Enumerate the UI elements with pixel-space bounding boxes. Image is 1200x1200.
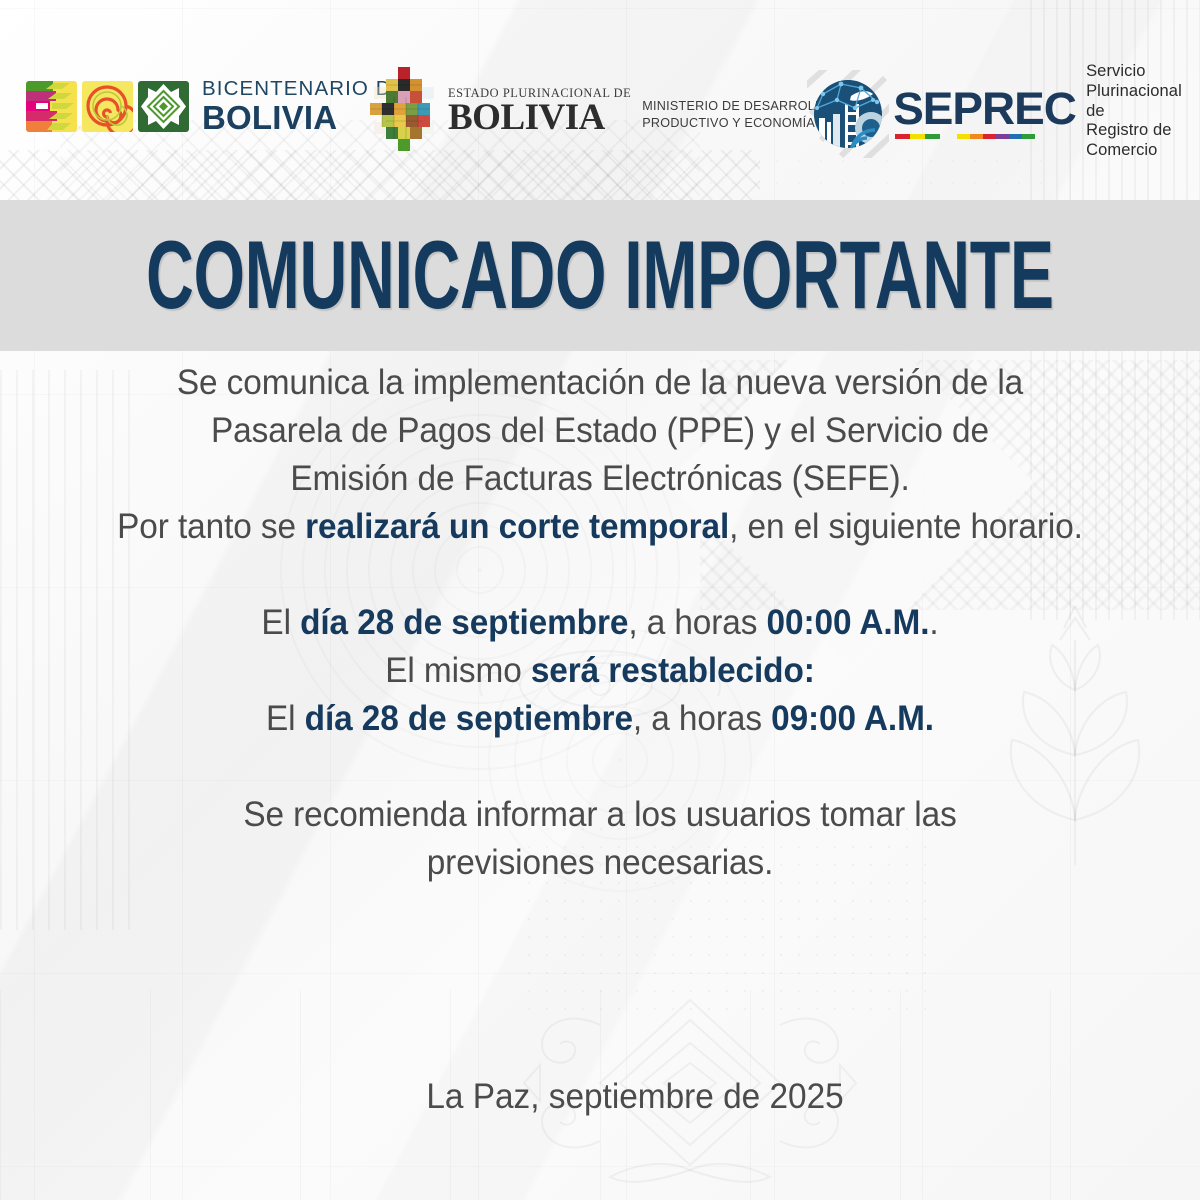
- seprec-color-bar-right: [957, 134, 1035, 139]
- cut-notice-bold: realizará un corte temporal: [305, 506, 729, 546]
- restore-mid: , a horas: [633, 698, 771, 738]
- ministerio-desarrollo-productivo-logo: ESTADO PLURINACIONAL DE BOLIVIA MINISTER…: [368, 64, 869, 159]
- restore-date: día 28 de septiembre: [305, 698, 633, 738]
- paragraph-restore-label: El mismo será restablecido:: [36, 646, 1164, 694]
- andean-diamond-tile-icon: [138, 81, 189, 132]
- seprec-color-bar-left: [895, 134, 940, 139]
- bicentenario-tiles: [26, 81, 189, 132]
- start-time: 00:00 A.M.: [767, 602, 930, 642]
- restore-date-pre: El: [266, 698, 305, 738]
- seprec-wordmark-group: SEPREC: [895, 88, 1074, 140]
- title-banner: COMUNICADO IMPORTANTE: [0, 200, 1200, 351]
- bicentenario-bolivia-logo: BICENTENARIO DE BOLIVIA: [26, 79, 406, 134]
- recommendation-text: Se recomienda informar a los usuarios to…: [243, 794, 956, 882]
- restore-bold: será restablecido:: [531, 650, 815, 690]
- seprec-subtitle-line1: Servicio Plurinacional de: [1086, 62, 1200, 121]
- page-title: COMUNICADO IMPORTANTE: [146, 220, 1054, 332]
- paragraph-start-datetime: El día 28 de septiembre, a horas 00:00 A…: [36, 598, 1164, 646]
- comunicado-poster: BICENTENARIO DE BOLIVIA: [0, 0, 1200, 1200]
- cut-notice-post: , en el siguiente horario.: [729, 506, 1083, 546]
- ministerio-line2: BOLIVIA: [448, 99, 631, 136]
- start-post: .: [929, 602, 938, 642]
- announcement-body: Se comunica la implementación de la nuev…: [0, 358, 1200, 886]
- signature-text: La Paz, septiembre de 2025: [426, 1076, 843, 1117]
- seprec-wordmark: SEPREC: [893, 88, 1076, 129]
- start-pre: El: [261, 602, 300, 642]
- spacer-1: [0, 550, 1200, 598]
- start-mid: , a horas: [628, 602, 766, 642]
- cut-notice-pre: Por tanto se: [117, 506, 305, 546]
- spiral-tile-icon: [82, 81, 133, 132]
- spacer-2: [0, 742, 1200, 790]
- seprec-color-bars: [895, 134, 1074, 139]
- seprec-subtitle-line2: Registro de Comercio: [1086, 121, 1200, 161]
- seprec-globe-network-icon: [807, 70, 889, 158]
- chakana-andean-cross-emblem-icon: [368, 64, 440, 159]
- ministerio-wordmark: ESTADO PLURINACIONAL DE BOLIVIA MINISTER…: [448, 87, 869, 135]
- paragraph-cut-notice: Por tanto se realizará un corte temporal…: [36, 502, 1164, 550]
- header-logos: BICENTENARIO DE BOLIVIA: [0, 0, 1200, 200]
- restore-time: 09:00 A.M.: [771, 698, 934, 738]
- paragraph-intro: Se comunica la implementación de la nuev…: [36, 358, 1164, 502]
- start-date: día 28 de septiembre: [300, 602, 628, 642]
- paragraph-intro-text: Se comunica la implementación de la nuev…: [177, 362, 1023, 498]
- paragraph-recommendation: Se recomienda informar a los usuarios to…: [36, 790, 1164, 886]
- paragraph-restore-datetime: El día 28 de septiembre, a horas 09:00 A…: [36, 694, 1164, 742]
- restore-pre: El mismo: [385, 650, 531, 690]
- estado-plurinacional-bolivia: ESTADO PLURINACIONAL DE BOLIVIA: [448, 87, 631, 135]
- seprec-logo: SEPREC Servicio Plurinacional de Registr…: [807, 62, 1200, 167]
- textile-tile-stripes-icon: [26, 81, 77, 132]
- seprec-subtitle: Servicio Plurinacional de Registro de Co…: [1086, 62, 1200, 167]
- signature-place-date: La Paz, septiembre de 2025: [0, 1076, 1200, 1117]
